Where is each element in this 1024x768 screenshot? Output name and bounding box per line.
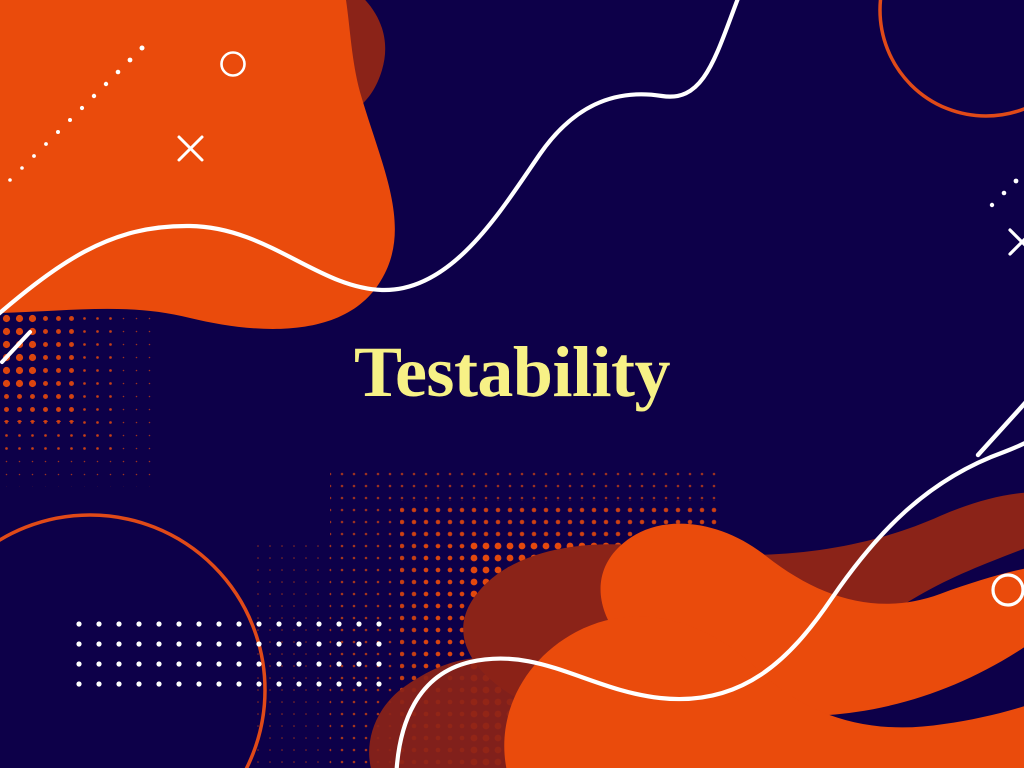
decorative-background-artwork <box>0 0 1024 768</box>
slide-canvas: Testability <box>0 0 1024 768</box>
